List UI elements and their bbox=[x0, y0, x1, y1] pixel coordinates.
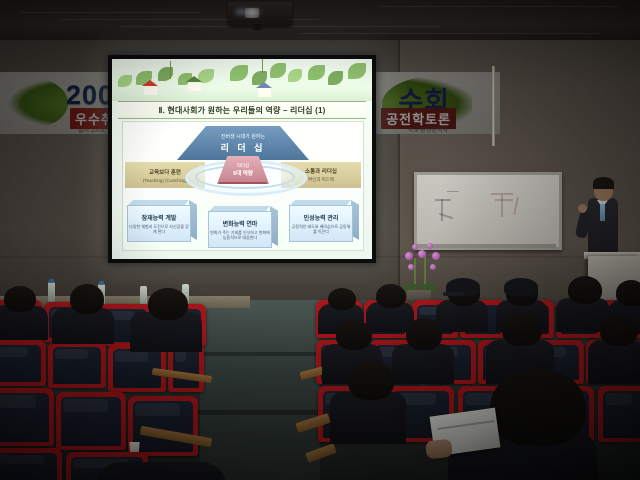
diagram-top-subtitle: 진버생 시대가 원하는 bbox=[221, 133, 265, 140]
box-sub: 다양한 체험과 도전으로 자신감을 갖게 한다 bbox=[128, 224, 190, 235]
orchid-bloom bbox=[427, 243, 433, 249]
attendee-head bbox=[336, 320, 372, 350]
diagram-box: 변화능력 연마 변화가 주는 기회를 인식하고 변화에 능동적으로 대응한다 bbox=[208, 206, 278, 246]
diagram-left-heading: 교육보다 훈련 bbox=[149, 168, 181, 176]
box-heading: 변화능력 연마 bbox=[223, 219, 258, 228]
house-icon bbox=[188, 81, 201, 91]
leaf-icon bbox=[348, 63, 366, 79]
banner-year-left: 200 bbox=[66, 80, 114, 111]
aisle-step bbox=[200, 352, 320, 356]
diagram-core-line2: 5대 역량 bbox=[233, 169, 253, 177]
water-bottle bbox=[48, 282, 55, 302]
leaf-icon bbox=[270, 63, 286, 78]
attendee-head bbox=[148, 288, 188, 320]
diagram-top-title: 리 더 십 bbox=[221, 141, 266, 154]
attendee-head bbox=[4, 286, 36, 312]
diagram-top-banner: 진버생 시대가 원하는 리 더 십 bbox=[177, 126, 309, 160]
banner-sub-left: 일시 2009. bbox=[78, 125, 106, 134]
attendee-cap bbox=[504, 278, 538, 296]
leaf-icon bbox=[118, 75, 132, 87]
projector-beam-glow bbox=[236, 9, 260, 15]
box-heading: 잠재능력 계발 bbox=[142, 213, 177, 222]
leaf-icon bbox=[288, 69, 302, 82]
foreground-attendee-head bbox=[490, 368, 586, 446]
slide-title-bar: Ⅱ. 현대사회가 원하는 우리들의 역량 – 리더십 (1) bbox=[118, 101, 366, 119]
attendee-shoulders bbox=[96, 462, 226, 480]
orchid-bloom bbox=[408, 264, 414, 270]
box-front-face: 잠재능력 계발 다양한 체험과 도전으로 자신감을 갖게 한다 bbox=[127, 205, 191, 242]
attendee-head bbox=[502, 312, 542, 346]
slide-header-artwork bbox=[112, 59, 372, 101]
attendee-shoulders bbox=[392, 344, 454, 384]
orchid-bloom bbox=[405, 252, 413, 260]
ceiling-line bbox=[380, 6, 620, 7]
diagram-right-heading: 소통과 리더십 bbox=[305, 167, 337, 175]
projection-screen-frame: Ⅱ. 현대사회가 원하는 우리들의 역량 – 리더십 (1) 진버생 시대가 원… bbox=[108, 55, 376, 263]
orchid-bloom bbox=[418, 250, 426, 258]
projector-mount bbox=[253, 24, 261, 30]
attendee-head bbox=[348, 360, 394, 400]
orchid-bloom bbox=[432, 252, 440, 260]
attendee-head bbox=[600, 314, 638, 346]
seat bbox=[48, 342, 106, 388]
box-front-face: 변화능력 연마 변화가 주는 기회를 인식하고 변화에 능동적으로 대응한다 bbox=[208, 211, 272, 248]
diagram-left-sub: (Teaching) (Coaching) bbox=[143, 178, 187, 183]
banner-pole bbox=[492, 66, 495, 146]
diagram-box: 인성능력 관리 긍정적인 태도와 배려심으로 공동체를 이끈다 bbox=[289, 200, 359, 240]
box-front-face: 인성능력 관리 긍정적인 태도와 배려심으로 공동체를 이끈다 bbox=[289, 205, 353, 242]
banner-sub-right: 학교 환경공학과 bbox=[408, 125, 448, 134]
ceiling-line bbox=[300, 33, 600, 34]
whiteboard-mark bbox=[435, 199, 451, 201]
ceiling-line bbox=[20, 12, 200, 13]
diagram-core-underline bbox=[219, 182, 267, 184]
whiteboard-tray bbox=[414, 244, 556, 248]
slide-diagram: 진버생 시대가 원하는 리 더 십 교육보다 훈련 (Teaching) (Co… bbox=[122, 121, 364, 251]
attendee-hand bbox=[425, 439, 453, 460]
whiteboard-mark bbox=[501, 195, 503, 217]
whiteboard-mark bbox=[495, 199, 513, 201]
aisle-step bbox=[196, 410, 324, 415]
whiteboard bbox=[414, 172, 562, 250]
seat bbox=[56, 392, 126, 450]
attendee-head bbox=[70, 284, 104, 314]
leaf-icon bbox=[308, 65, 325, 80]
attendee-head bbox=[376, 284, 406, 308]
whiteboard-mark bbox=[441, 199, 443, 221]
bottle-cap bbox=[49, 279, 54, 283]
house-icon bbox=[258, 87, 271, 97]
house-icon bbox=[144, 85, 157, 95]
presentation-slide: Ⅱ. 현대사회가 원하는 우리들의 역량 – 리더십 (1) 진버생 시대가 원… bbox=[112, 59, 372, 259]
leaf-icon bbox=[328, 71, 343, 85]
center-aisle bbox=[200, 300, 320, 480]
projection-screen: Ⅱ. 현대사회가 원하는 우리들의 역량 – 리더십 (1) 진버생 시대가 원… bbox=[112, 59, 372, 259]
attendee-head bbox=[328, 288, 356, 310]
whiteboard-mark bbox=[447, 191, 459, 192]
presenter-hand bbox=[578, 204, 587, 213]
box-sub: 긍정적인 태도와 배려심으로 공동체를 이끈다 bbox=[290, 224, 352, 235]
slide-title-text: Ⅱ. 현대사회가 원하는 우리들의 역량 – 리더십 (1) bbox=[158, 105, 325, 116]
orchid-bloom bbox=[412, 244, 418, 250]
attendee-head bbox=[406, 318, 442, 350]
attendee-shoulders bbox=[588, 340, 640, 384]
diagram-box: 잠재능력 계발 다양한 체험과 도전으로 자신감을 갖게 한다 bbox=[127, 200, 197, 240]
leaf-icon bbox=[230, 65, 248, 81]
seat bbox=[598, 386, 640, 442]
cap-brim bbox=[443, 292, 465, 296]
presenter-tie bbox=[600, 204, 605, 221]
bottle-cap bbox=[99, 281, 104, 285]
seat bbox=[0, 448, 62, 480]
orchid-bloom bbox=[430, 264, 436, 270]
box-sub: 변화가 주는 기회를 인식하고 변화에 능동적으로 대응한다 bbox=[209, 230, 271, 241]
ceiling-line bbox=[120, 26, 440, 27]
seat bbox=[0, 340, 46, 386]
banner-logo-swoosh-left-icon bbox=[8, 78, 68, 128]
water-bottle bbox=[140, 286, 147, 306]
box-heading: 인성능력 관리 bbox=[304, 213, 339, 222]
presenter-hair bbox=[593, 177, 614, 189]
seat bbox=[0, 388, 54, 446]
diagram-right-sub: 확인과 피드백 bbox=[308, 177, 334, 183]
attendee-head bbox=[568, 276, 602, 304]
whiteboard-mark bbox=[513, 197, 519, 215]
attendee-head bbox=[616, 280, 640, 306]
screenshot-root: 200 수회 우수취업 공전학토론 일시 2009. 학교 환경공학과 bbox=[0, 0, 640, 480]
